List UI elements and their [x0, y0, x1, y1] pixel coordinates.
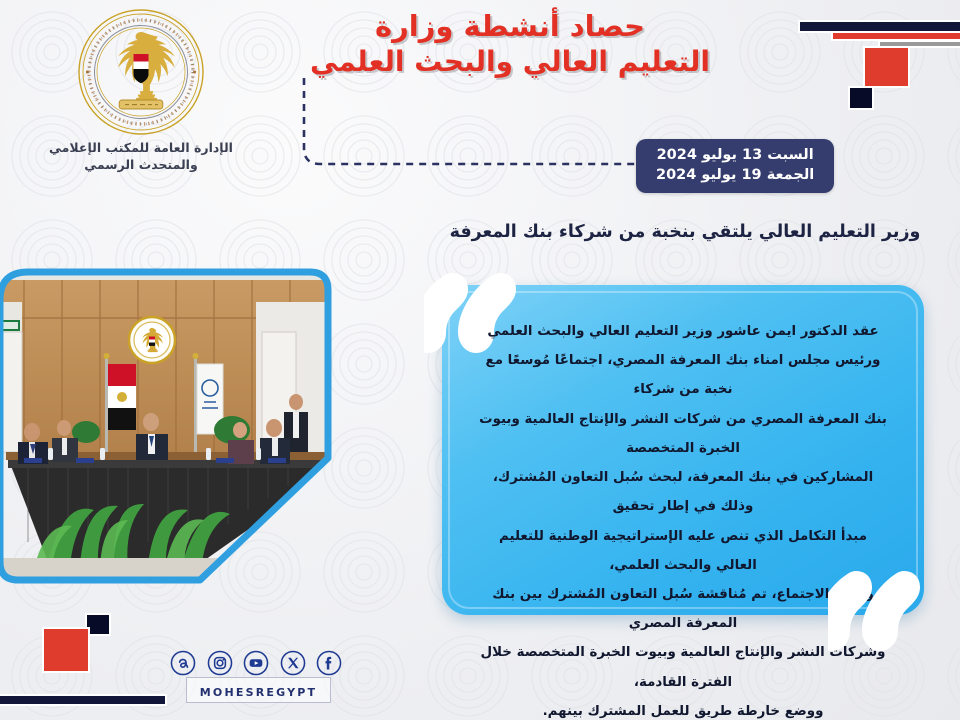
- facebook-icon[interactable]: [316, 650, 342, 676]
- deco-bar-gray: [880, 42, 960, 46]
- quote-line: بنك المعرفة المصري من شركات النشر والإنت…: [478, 405, 888, 463]
- date-to: الجمعة 19 يوليو 2024: [656, 166, 814, 186]
- news-quote-card: عقد الدكتور ايمن عاشور وزير التعليم العا…: [442, 285, 924, 615]
- logo-caption-line2: والمتحدث الرسمي: [46, 157, 236, 174]
- quote-line: وخلال الاجتماع، تم مُناقشة سُبل التعاون …: [478, 580, 888, 638]
- egypt-eagle-seal-icon: [77, 8, 205, 136]
- deco-bar-red: [833, 33, 960, 39]
- deco-square-red: [44, 629, 88, 671]
- poster-canvas: الإدارة العامة للمكتب الإعلامي والمتحدث …: [0, 0, 960, 720]
- quote-text: عقد الدكتور ايمن عاشور وزير التعليم العا…: [456, 299, 910, 720]
- deco-square-red: [865, 48, 908, 86]
- instagram-icon[interactable]: [207, 650, 233, 676]
- page-title-line1: حصاد أنشطة وزارة: [300, 8, 720, 44]
- quote-line: المشاركين في بنك المعرفة، لبحث سُبل التع…: [478, 463, 888, 521]
- quote-line: ووضع خارطة طريق للعمل المشترك بينهم.: [478, 697, 888, 720]
- decoration-top-right: [785, 0, 960, 115]
- quote-line: عقد الدكتور ايمن عاشور وزير التعليم العا…: [478, 317, 888, 346]
- youtube-icon[interactable]: [243, 650, 269, 676]
- ministry-meeting-photo: [0, 262, 350, 592]
- x-twitter-icon[interactable]: [280, 650, 306, 676]
- deco-bar-navy: [800, 22, 960, 31]
- page-title: حصاد أنشطة وزارة التعليم العالي والبحث ا…: [300, 8, 720, 79]
- threads-icon[interactable]: [170, 650, 196, 676]
- quote-line: وشركات النشر والإنتاج العالمية وبيوت الخ…: [478, 638, 888, 696]
- social-handle-text: MOHESREGYPT: [200, 686, 317, 699]
- decoration-bottom-left: [0, 615, 180, 720]
- deco-bar-navy: [0, 696, 165, 704]
- page-title-line2: التعليم العالي والبحث العلمي: [300, 44, 720, 79]
- social-links-bar[interactable]: [170, 650, 342, 676]
- deco-square-navy: [850, 88, 872, 108]
- news-headline: وزير التعليم العالي يلتقي بنخبة من شركاء…: [440, 222, 930, 242]
- quote-line: مبدأ التكامل الذي تنص عليه الإستراتيجية …: [478, 522, 888, 580]
- logo-caption-line1: الإدارة العامة للمكتب الإعلامي: [46, 140, 236, 157]
- date-range-badge: السبت 13 يوليو 2024 الجمعة 19 يوليو 2024: [636, 139, 834, 193]
- social-handle-box[interactable]: MOHESREGYPT: [186, 677, 331, 703]
- ministry-logo-block: الإدارة العامة للمكتب الإعلامي والمتحدث …: [46, 8, 236, 174]
- logo-caption: الإدارة العامة للمكتب الإعلامي والمتحدث …: [46, 140, 236, 174]
- quote-line: ورئيس مجلس امناء بنك المعرفة المصري، اجت…: [478, 346, 888, 404]
- date-from: السبت 13 يوليو 2024: [656, 146, 814, 166]
- deco-square-navy: [87, 615, 109, 634]
